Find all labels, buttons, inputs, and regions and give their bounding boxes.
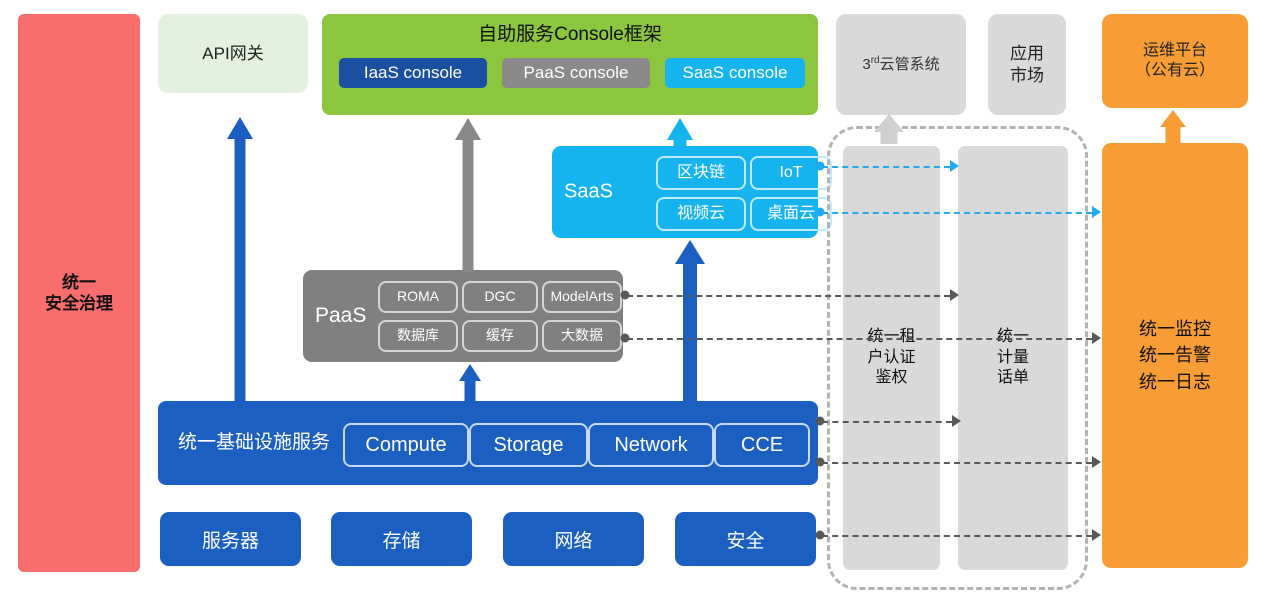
ops-platform-label: 运维平台 （公有云）	[1135, 41, 1215, 81]
api-gateway-label: API网关	[202, 43, 263, 64]
connector-infra-to-ops	[822, 462, 1092, 464]
bottom-box-security[interactable]: 安全	[675, 512, 816, 566]
connector-paas-to-ops	[627, 338, 1092, 340]
connector-arrowhead-paas-to-ops	[1092, 332, 1101, 344]
unified-monitoring-panel[interactable]: 统一监控 统一告警 统一日志	[1102, 143, 1248, 568]
saas-layer-box[interactable]: SaaS 区块链 IoT 视频云 桌面云	[552, 146, 818, 238]
paas-layer-label: PaaS	[315, 303, 366, 329]
saas-console-chip[interactable]: SaaS console	[665, 58, 805, 88]
infra-chip-network[interactable]: Network	[588, 423, 714, 467]
paas-chip-database[interactable]: 数据库	[378, 320, 458, 352]
ops-platform-public-cloud-box[interactable]: 运维平台 （公有云）	[1102, 14, 1248, 108]
unified-infrastructure-service-bar[interactable]: 统一基础设施服务 Compute Storage Network CCE	[158, 401, 818, 485]
saas-layer-label: SaaS	[564, 180, 613, 205]
bottom-box-storage[interactable]: 存储	[331, 512, 472, 566]
third-party-cloud-mgmt-label: 3rd云管系统	[862, 55, 939, 75]
iaas-console-chip[interactable]: IaaS console	[339, 58, 487, 88]
connector-arrowhead-saas-to-ops	[1092, 206, 1101, 218]
paas-chip-roma[interactable]: ROMA	[378, 281, 458, 313]
connector-infra-to-auth	[822, 421, 952, 423]
infra-chip-compute[interactable]: Compute	[343, 423, 469, 467]
paas-console-chip[interactable]: PaaS console	[502, 58, 650, 88]
architecture-diagram: 统一 安全治理 API网关 自助服务Console框架 IaaS console…	[0, 0, 1265, 605]
app-market-box[interactable]: 应用 市场	[988, 14, 1066, 115]
unified-metering-billing-column[interactable]: 统一 计量 话单	[958, 146, 1068, 570]
arrow-shared-services-to-third-cloud	[874, 114, 904, 144]
unified-infrastructure-service-label: 统一基础设施服务	[178, 431, 330, 455]
saas-chip-blockchain[interactable]: 区块链	[656, 156, 746, 190]
console-frame-title: 自助服务Console框架	[322, 23, 818, 47]
unified-metering-billing-label: 统一 计量 话单	[997, 327, 1029, 389]
paas-chip-modelarts[interactable]: ModelArts	[542, 281, 622, 313]
unified-tenant-auth-column[interactable]: 统一租 户认证 鉴权	[843, 146, 940, 570]
connector-arrowhead-bottom-to-ops	[1092, 529, 1101, 541]
bottom-box-network[interactable]: 网络	[503, 512, 644, 566]
infra-chip-storage[interactable]: Storage	[469, 423, 588, 467]
paas-chip-bigdata[interactable]: 大数据	[542, 320, 622, 352]
bottom-box-server[interactable]: 服务器	[160, 512, 301, 566]
third-party-cloud-mgmt-box[interactable]: 3rd云管系统	[836, 14, 966, 115]
unified-security-governance-panel[interactable]: 统一 安全治理	[18, 14, 140, 572]
connector-paas-to-auth	[627, 295, 950, 297]
app-market-label: 应用 市场	[1010, 43, 1044, 86]
arrow-infra-to-api-gateway	[226, 117, 254, 403]
connector-saas-to-ops	[822, 212, 1092, 214]
connector-arrowhead-paas-to-auth	[950, 289, 959, 301]
unified-monitoring-label: 统一监控 统一告警 统一日志	[1139, 316, 1211, 394]
arrow-paas-to-console	[454, 118, 482, 272]
arrow-ops-panel-to-ops-platform	[1158, 110, 1188, 145]
arrow-infra-to-paas	[456, 364, 484, 404]
paas-chip-dgc[interactable]: DGC	[462, 281, 538, 313]
connector-bottom-to-ops	[822, 535, 1092, 537]
paas-chip-cache[interactable]: 缓存	[462, 320, 538, 352]
arrow-infra-to-saas	[675, 240, 705, 403]
paas-layer-box[interactable]: PaaS ROMA DGC ModelArts 数据库 缓存 大数据	[303, 270, 623, 362]
arrow-saas-to-console	[666, 118, 694, 148]
api-gateway-box[interactable]: API网关	[158, 14, 308, 93]
connector-saas-to-auth	[822, 166, 950, 168]
self-service-console-frame[interactable]: 自助服务Console框架 IaaS console PaaS console …	[322, 14, 818, 115]
connector-arrowhead-infra-to-auth	[952, 415, 961, 427]
infra-chip-cce[interactable]: CCE	[714, 423, 810, 467]
connector-arrowhead-saas-to-auth	[950, 160, 959, 172]
unified-security-governance-label: 统一 安全治理	[45, 272, 113, 315]
saas-chip-video-cloud[interactable]: 视频云	[656, 197, 746, 231]
unified-tenant-auth-label: 统一租 户认证 鉴权	[867, 327, 915, 389]
connector-arrowhead-infra-to-ops	[1092, 456, 1101, 468]
